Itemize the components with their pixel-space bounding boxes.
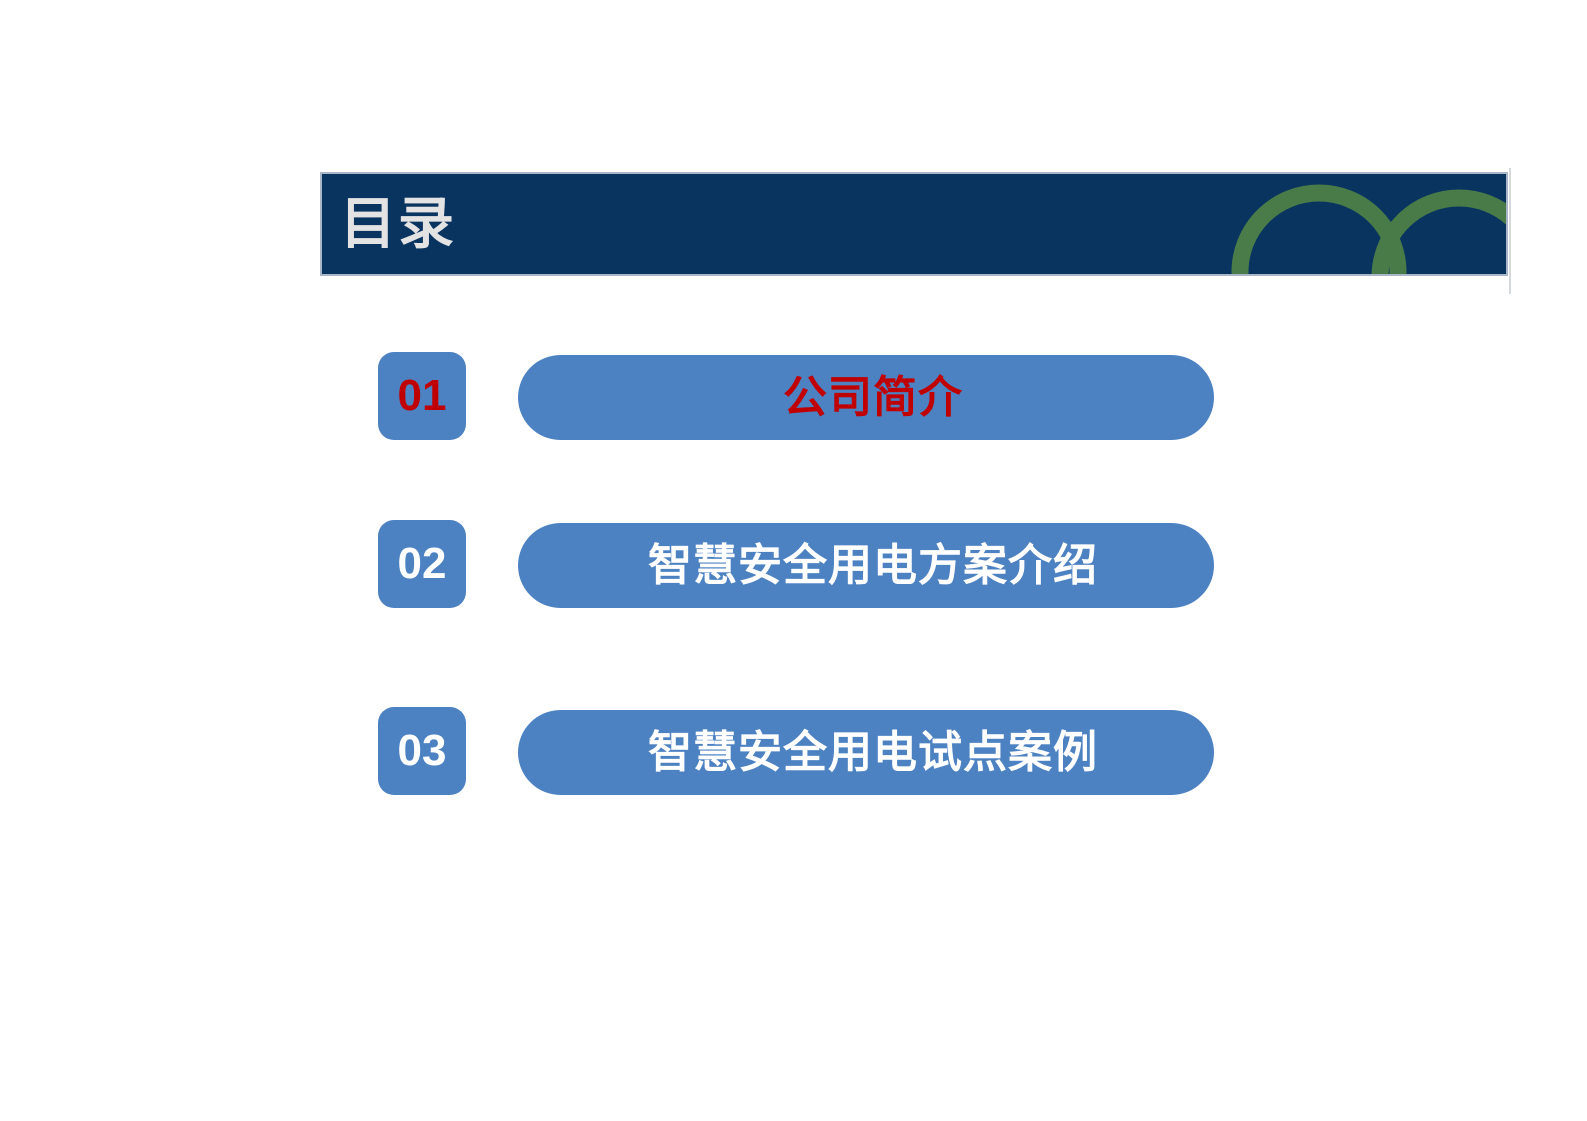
toc-list: 01 公司简介 02 智慧安全用电方案介绍 03 智慧安全用电试点案例 — [0, 0, 1587, 1121]
toc-item-02[interactable]: 02 智慧安全用电方案介绍 — [378, 520, 1218, 610]
slide-canvas: 目录 01 公司简介 02 智慧安全用电方案介绍 03 智慧安全用电试点案例 — [0, 0, 1587, 1121]
toc-number-badge[interactable]: 02 — [378, 520, 466, 608]
toc-number-badge[interactable]: 03 — [378, 707, 466, 795]
toc-item-01[interactable]: 01 公司简介 — [378, 352, 1218, 442]
toc-label-pill[interactable]: 公司简介 — [518, 355, 1214, 440]
toc-label-pill[interactable]: 智慧安全用电试点案例 — [518, 710, 1214, 795]
toc-label-pill[interactable]: 智慧安全用电方案介绍 — [518, 523, 1214, 608]
toc-item-label: 智慧安全用电试点案例 — [634, 731, 1098, 775]
toc-item-label: 智慧安全用电方案介绍 — [634, 544, 1098, 588]
toc-number-badge[interactable]: 01 — [378, 352, 466, 440]
toc-item-label: 公司简介 — [769, 376, 963, 420]
toc-item-03[interactable]: 03 智慧安全用电试点案例 — [378, 707, 1218, 797]
